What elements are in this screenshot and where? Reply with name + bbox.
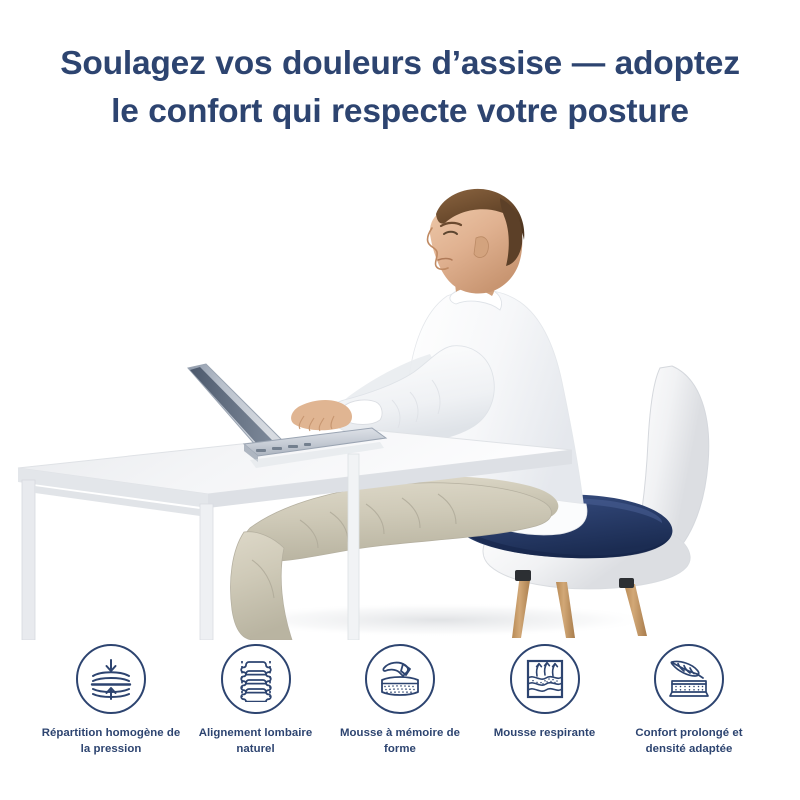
leg-cap bbox=[515, 570, 531, 581]
desk-leg-mid bbox=[200, 504, 213, 640]
scene-illustration bbox=[0, 168, 800, 640]
spine-alignment-icon bbox=[233, 656, 279, 702]
feature-badge bbox=[365, 644, 435, 714]
feature-label: Répartition homogène de la pression bbox=[40, 725, 182, 757]
breathable-foam-airflow-icon bbox=[522, 656, 568, 702]
feature-badge bbox=[654, 644, 724, 714]
memory-foam-hand-icon bbox=[377, 656, 423, 702]
feature-item[interactable]: Alignement lombaire naturel bbox=[185, 644, 327, 757]
feature-item[interactable]: Mousse à mémoire de forme bbox=[329, 644, 471, 757]
hero-photo bbox=[0, 168, 800, 640]
desk-leg-front bbox=[22, 480, 35, 640]
feature-label: Mousse à mémoire de forme bbox=[329, 725, 471, 757]
promo-banner: Soulagez vos douleurs d’assise — adoptez… bbox=[0, 0, 800, 800]
feather-cushion-density-icon bbox=[666, 656, 712, 702]
feature-badge bbox=[76, 644, 146, 714]
page-title: Soulagez vos douleurs d’assise — adoptez… bbox=[58, 40, 742, 136]
feature-item[interactable]: Mousse respirante bbox=[474, 644, 616, 741]
desk-leg-back bbox=[348, 454, 359, 640]
feature-label: Mousse respirante bbox=[494, 725, 596, 741]
leg-cap bbox=[619, 578, 634, 588]
feature-label: Confort prolongé et densité adaptée bbox=[618, 725, 760, 757]
feature-item[interactable]: Confort prolongé et densité adaptée bbox=[618, 644, 760, 757]
feature-label: Alignement lombaire naturel bbox=[185, 725, 327, 757]
pressure-distribution-icon bbox=[88, 656, 134, 702]
feature-badge bbox=[221, 644, 291, 714]
ear bbox=[474, 237, 488, 258]
feature-row: Répartition homogène de la pression bbox=[40, 644, 760, 794]
feature-item[interactable]: Répartition homogène de la pression bbox=[40, 644, 182, 757]
feature-badge bbox=[510, 644, 580, 714]
